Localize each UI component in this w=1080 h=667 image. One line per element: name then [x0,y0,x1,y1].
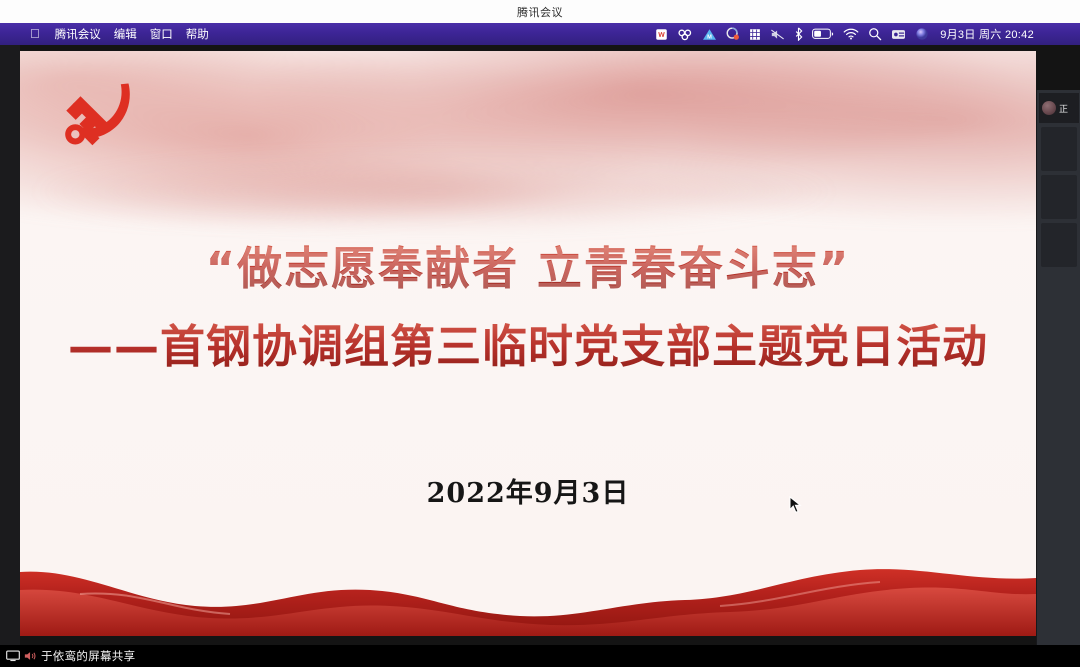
participant-avatar [1042,101,1056,115]
slide-title-block: “做志愿奉献者 立青春奋斗志” ——首钢协调组第三临时党支部主题党日活动 [20,241,1036,376]
speaker-icon [24,650,37,662]
slide-subtitle: ——首钢协调组第三临时党支部主题党日活动 [20,319,1036,375]
participant-slot[interactable] [1041,175,1077,219]
apple-logo-icon[interactable]:  [30,27,40,40]
svg-text:M: M [707,34,712,40]
menu-item-app[interactable]: 腾讯会议 [55,26,101,42]
menu-item-edit[interactable]: 编辑 [114,26,137,42]
menu-item-help[interactable]: 帮助 [186,26,209,42]
bluetooth-icon[interactable] [794,26,803,42]
search-icon[interactable] [868,26,882,42]
slide-date: 2022年9月3日 [20,471,1036,510]
meeting-participants-rail[interactable]: 正 [1036,90,1080,667]
participant-slot[interactable] [1041,127,1077,171]
stage-left-gutter [0,45,20,645]
presentation-slide: “做志愿奉献者 立青春奋斗志” ——首钢协调组第三临时党支部主题党日活动 202… [20,51,1036,636]
mouse-pointer [789,496,803,516]
siri-icon[interactable] [915,26,929,42]
wps-office-icon[interactable] [655,26,668,42]
wifi-icon[interactable] [843,26,859,42]
slide-red-ribbon-decoration [20,528,1036,636]
color-wheel-icon[interactable] [726,26,740,42]
menubar-clock[interactable]: 9月3日 周六 20:42 [940,26,1034,42]
sound-muted-icon[interactable] [770,26,785,42]
participant-name: 正 [1059,102,1068,115]
shared-screen-stage: “做志愿奉献者 立青春奋斗志” ——首钢协调组第三临时党支部主题党日活动 202… [0,45,1080,645]
share-status-text: 于依鸾的屏幕共享 [41,648,135,664]
screen-share-icon [6,650,20,662]
mac-menubar:  腾讯会议 编辑 窗口 帮助 M [0,23,1080,45]
slide-main-title: “做志愿奉献者 立青春奋斗志” [20,241,1036,297]
slide-cloud-texture-mid [40,145,975,239]
window-title: 腾讯会议 [517,4,563,20]
mountain-m-icon[interactable]: M [702,26,717,42]
menu-item-window[interactable]: 窗口 [150,26,173,42]
participant-tile[interactable]: 正 [1039,93,1079,123]
share-status-bar: 于依鸾的屏幕共享 [0,645,1080,667]
window-titlebar: 腾讯会议 [0,0,1080,23]
screen: 腾讯会议  腾讯会议 编辑 窗口 帮助 M [0,0,1080,667]
cpc-hammer-sickle-emblem [50,74,146,166]
participant-slot[interactable] [1041,223,1077,267]
input-method-grid-icon[interactable] [749,26,761,42]
battery-icon[interactable] [812,26,834,42]
control-center-icon[interactable] [891,26,906,42]
three-rings-icon[interactable] [677,26,693,42]
